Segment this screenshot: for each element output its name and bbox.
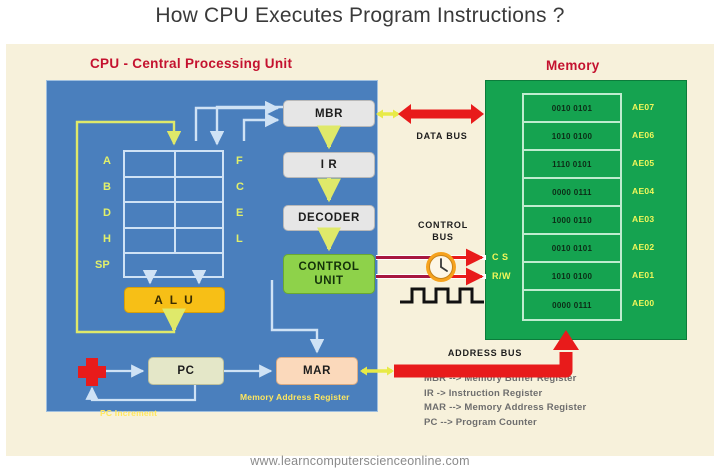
diagram-page: How CPU Executes Program Instructions ? …: [0, 0, 720, 474]
memory-cell: 0010 0101: [524, 235, 620, 263]
register-row: [125, 254, 222, 280]
register-row: [125, 203, 222, 229]
memory-cell: 0000 0111: [524, 179, 620, 207]
register-row: [125, 178, 222, 204]
legend-item-mbr: MBR --> Memory Buffer Register: [424, 372, 704, 387]
memory-cell: 1010 0100: [524, 123, 620, 151]
memory-address-label: AE03: [632, 214, 654, 224]
pc-block: PC: [148, 357, 224, 385]
memory-address-label: AE01: [632, 270, 654, 280]
control-unit-block: CONTROL UNIT: [283, 254, 375, 294]
memory-cell-grid: 0010 0101 1010 0100 1110 0101 0000 0111 …: [522, 93, 622, 321]
data-bus-label: DATA BUS: [402, 131, 482, 141]
cpu-section-heading: CPU - Central Processing Unit: [90, 56, 292, 71]
register-label-d: D: [103, 207, 111, 219]
memory-address-label: AE02: [632, 242, 654, 252]
mar-caption: Memory Address Register: [240, 392, 350, 402]
register-label-h: H: [103, 233, 111, 245]
memory-cell: 1010 0100: [524, 263, 620, 291]
register-label-c: C: [236, 181, 244, 193]
alu-block: A L U: [124, 287, 225, 313]
memory-address-label: AE05: [632, 158, 654, 168]
register-row: [125, 152, 222, 178]
register-label-e: E: [236, 207, 243, 219]
mbr-block: MBR: [283, 100, 375, 127]
memory-cell: 0000 0111: [524, 291, 620, 319]
ir-block: I R: [283, 152, 375, 178]
register-label-b: B: [103, 181, 111, 193]
control-bus-label: CONTROL BUS: [412, 220, 474, 243]
register-label-l: L: [236, 233, 243, 245]
chip-select-label: C S: [492, 252, 509, 262]
decoder-block: DECODER: [283, 205, 375, 231]
page-title: How CPU Executes Program Instructions ?: [0, 4, 720, 28]
memory-section-heading: Memory: [546, 58, 600, 73]
register-file: [123, 150, 224, 278]
legend-item-ir: IR -> Instruction Register: [424, 387, 704, 402]
control-unit-line2: UNIT: [314, 274, 343, 288]
legend-item-mar: MAR --> Memory Address Register: [424, 401, 704, 416]
pc-increment-caption: PC Increment: [100, 408, 157, 418]
memory-address-label: AE00: [632, 298, 654, 308]
memory-address-label: AE04: [632, 186, 654, 196]
legend-item-pc: PC --> Program Counter: [424, 416, 704, 431]
legend: MBR --> Memory Buffer Register IR -> Ins…: [424, 372, 704, 430]
mar-block: MAR: [276, 357, 358, 385]
address-bus-label: ADDRESS BUS: [430, 348, 540, 358]
memory-cell: 1110 0101: [524, 151, 620, 179]
memory-cell: 0010 0101: [524, 95, 620, 123]
register-label-a: A: [103, 155, 111, 167]
register-label-f: F: [236, 155, 243, 167]
memory-address-label: AE06: [632, 130, 654, 140]
register-label-sp: SP: [95, 259, 110, 271]
footer-url: www.learncomputerscienceonline.com: [0, 454, 720, 468]
register-row: [125, 229, 222, 255]
read-write-label: R/W: [492, 271, 511, 281]
memory-address-label: AE07: [632, 102, 654, 112]
control-unit-line1: CONTROL: [298, 260, 359, 274]
memory-cell: 1000 0110: [524, 207, 620, 235]
